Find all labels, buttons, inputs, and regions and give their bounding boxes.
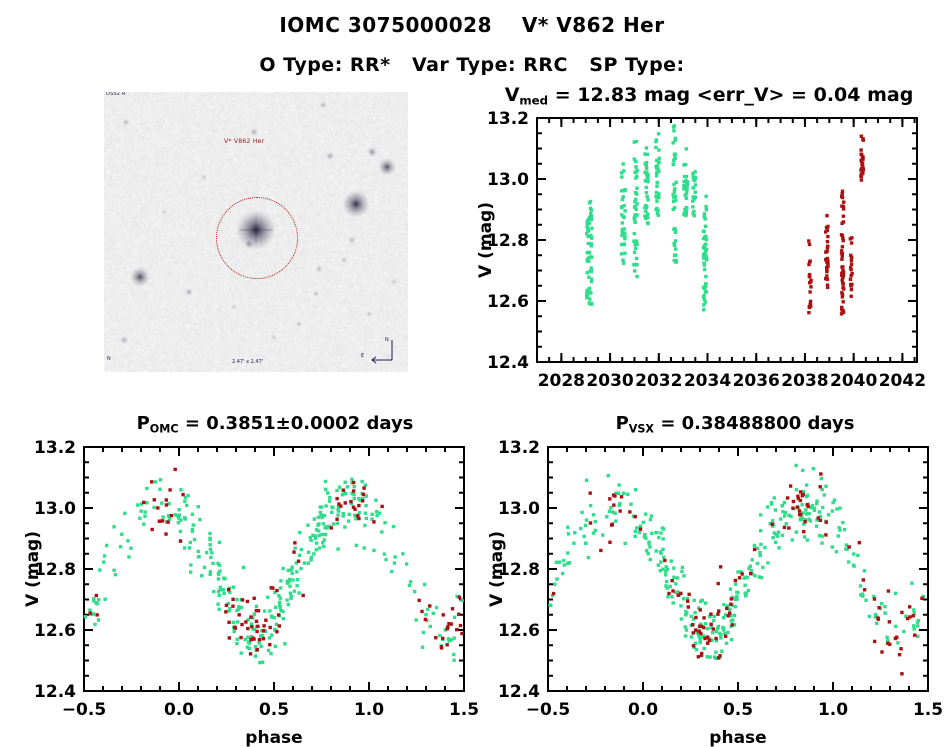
svg-text:12.4: 12.4 [487,353,529,373]
phase-omc-panel: −0.50.00.51.01.512.412.612.813.013.2phas… [0,400,480,747]
svg-text:2028: 2028 [538,371,585,391]
svg-text:V (mag): V (mag) [476,202,496,278]
svg-text:12.6: 12.6 [487,292,529,312]
svg-text:0.0: 0.0 [164,700,194,720]
svg-text:12.6: 12.6 [498,621,540,641]
svg-text:1.0: 1.0 [818,700,848,720]
svg-text:13.2: 13.2 [498,438,540,458]
svg-text:2042: 2042 [879,371,926,391]
svg-text:phase: phase [245,728,302,747]
svg-text:12.4: 12.4 [34,682,76,702]
phase-vsx-panel: −0.50.00.51.01.512.412.612.813.013.2phas… [464,400,944,747]
light-curve-panel: 2028203020322034203620382040204212.412.6… [0,0,944,400]
svg-text:−0.5: −0.5 [526,700,570,720]
svg-text:−0.5: −0.5 [62,700,106,720]
svg-text:13.0: 13.0 [487,170,529,190]
svg-text:0.0: 0.0 [628,700,658,720]
phase-omc-svg: −0.50.00.51.01.512.412.612.813.013.2phas… [0,400,480,747]
svg-text:13.2: 13.2 [487,109,529,129]
svg-text:V (mag): V (mag) [487,531,507,607]
svg-text:0.5: 0.5 [723,700,753,720]
svg-text:2032: 2032 [635,371,682,391]
svg-text:2034: 2034 [684,371,731,391]
svg-text:12.4: 12.4 [498,682,540,702]
svg-text:phase: phase [709,728,766,747]
plot-page: IOMC 3075000028 V* V862 Her O Type: RR* … [0,0,944,747]
svg-text:0.5: 0.5 [259,700,289,720]
svg-text:12.6: 12.6 [34,621,76,641]
svg-text:2030: 2030 [586,371,633,391]
svg-text:1.5: 1.5 [913,700,943,720]
svg-text:13.2: 13.2 [34,438,76,458]
svg-text:1.0: 1.0 [354,700,384,720]
light-curve-svg: 2028203020322034203620382040204212.412.6… [0,0,944,400]
svg-text:2038: 2038 [781,371,828,391]
phase-vsx-svg: −0.50.00.51.01.512.412.612.813.013.2phas… [464,400,944,747]
svg-text:2040: 2040 [830,371,877,391]
svg-text:2036: 2036 [733,371,780,391]
svg-text:13.0: 13.0 [498,499,540,519]
svg-text:13.0: 13.0 [34,499,76,519]
svg-text:V (mag): V (mag) [23,531,43,607]
